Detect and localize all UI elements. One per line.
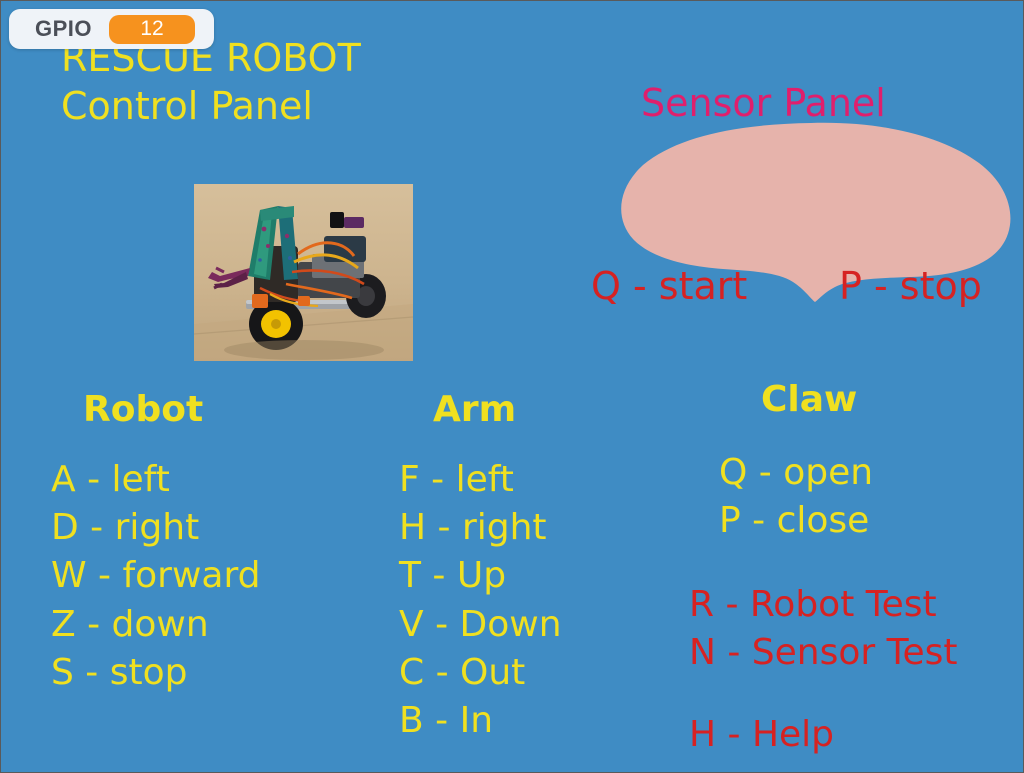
key-list-claw: Q - open P - close bbox=[719, 449, 873, 545]
key-list-robot: A - left D - right W - forward Z - down … bbox=[51, 456, 261, 697]
page-title-line2: Control Panel bbox=[61, 87, 313, 125]
key-row[interactable]: F - left bbox=[399, 456, 562, 504]
gpio-label: GPIO bbox=[35, 16, 92, 42]
key-row[interactable]: C - Out bbox=[399, 649, 562, 697]
gpio-status-badge[interactable]: GPIO 12 bbox=[9, 9, 214, 49]
key-row[interactable]: P - close bbox=[719, 497, 873, 545]
column-header-robot: Robot bbox=[83, 389, 203, 430]
key-row[interactable]: W - forward bbox=[51, 552, 261, 600]
key-row[interactable]: N - Sensor Test bbox=[689, 629, 958, 677]
key-row[interactable]: R - Robot Test bbox=[689, 581, 958, 629]
column-header-arm: Arm bbox=[433, 389, 516, 430]
sensor-key-stop[interactable]: P - stop bbox=[839, 264, 982, 308]
key-row[interactable]: H - right bbox=[399, 504, 562, 552]
key-row[interactable]: A - left bbox=[51, 456, 261, 504]
key-list-tests: R - Robot Test N - Sensor Test bbox=[689, 581, 958, 677]
key-row[interactable]: Q - open bbox=[719, 449, 873, 497]
key-row[interactable]: T - Up bbox=[399, 552, 562, 600]
key-row[interactable]: Z - down bbox=[51, 601, 261, 649]
key-row[interactable]: V - Down bbox=[399, 601, 562, 649]
gpio-value-pill: 12 bbox=[109, 15, 195, 44]
robot-photo bbox=[194, 184, 413, 361]
gpio-value: 12 bbox=[140, 17, 163, 41]
key-list-arm: F - left H - right T - Up V - Down C - O… bbox=[399, 456, 562, 745]
key-row[interactable]: D - right bbox=[51, 504, 261, 552]
column-header-claw: Claw bbox=[761, 379, 857, 420]
key-list-help: H - Help bbox=[689, 711, 834, 759]
sensor-key-start[interactable]: Q - start bbox=[591, 264, 747, 308]
key-row[interactable]: S - stop bbox=[51, 649, 261, 697]
key-row[interactable]: B - In bbox=[399, 697, 562, 745]
control-panel-screen: GPIO 12 RESCUE ROBOT Control Panel bbox=[0, 0, 1024, 773]
key-row[interactable]: H - Help bbox=[689, 711, 834, 759]
